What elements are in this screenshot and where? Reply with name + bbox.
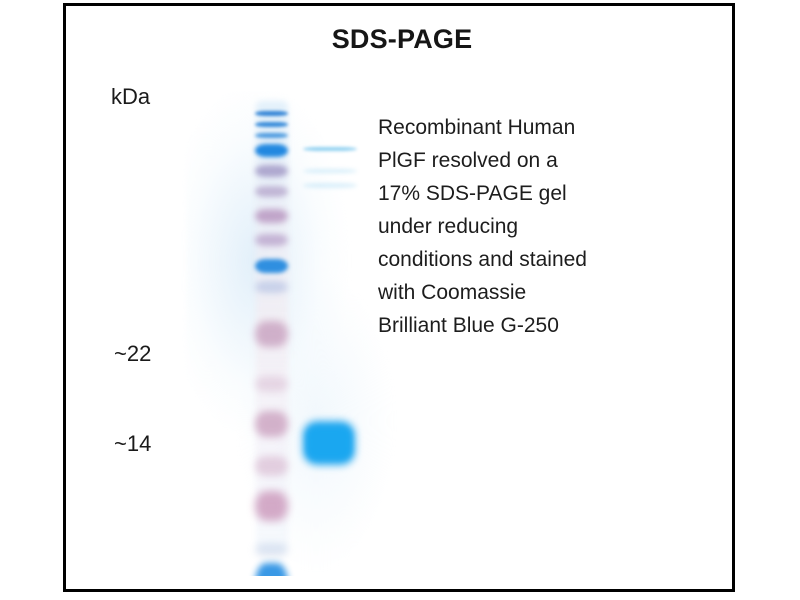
- sample-band-faint: [303, 147, 357, 151]
- marker-band: [255, 321, 288, 347]
- marker-lane: [252, 91, 292, 561]
- figure-title: SDS-PAGE: [66, 24, 738, 55]
- description-line: Recombinant Human: [378, 111, 688, 144]
- sample-band-main-plgf-core: [307, 427, 351, 459]
- marker-band: [255, 122, 288, 127]
- marker-band: [255, 234, 288, 246]
- sample-band-faint: [303, 169, 357, 173]
- marker-band: [255, 456, 288, 476]
- figure-description: Recombinant Human PlGF resolved on a 17%…: [378, 111, 688, 342]
- figure-border-frame: SDS-PAGE kDa ~22 ~14: [63, 3, 735, 592]
- marker-band: [255, 144, 288, 157]
- sample-lane: [294, 91, 362, 511]
- marker-band: [255, 543, 288, 557]
- mw-marker-label-14: ~14: [114, 431, 151, 457]
- description-line: with Coomassie: [378, 276, 688, 309]
- description-line: 17% SDS-PAGE gel: [378, 177, 688, 210]
- marker-band: [255, 491, 288, 521]
- marker-band: [255, 281, 288, 293]
- description-line: Brilliant Blue G-250: [378, 309, 688, 342]
- marker-band: [255, 133, 288, 138]
- marker-band: [255, 209, 288, 223]
- description-line: under reducing: [378, 210, 688, 243]
- marker-band: [255, 411, 288, 437]
- description-line: conditions and stained: [378, 243, 688, 276]
- kda-unit-label: kDa: [111, 84, 150, 110]
- sample-band-faint: [303, 183, 357, 188]
- marker-band: [255, 376, 288, 392]
- marker-band: [255, 186, 288, 197]
- figure-root: SDS-PAGE kDa ~22 ~14: [0, 0, 800, 600]
- marker-band: [255, 165, 288, 177]
- marker-band: [255, 111, 288, 116]
- description-line: PlGF resolved on a: [378, 144, 688, 177]
- marker-band: [255, 259, 288, 273]
- mw-marker-label-22: ~22: [114, 341, 151, 367]
